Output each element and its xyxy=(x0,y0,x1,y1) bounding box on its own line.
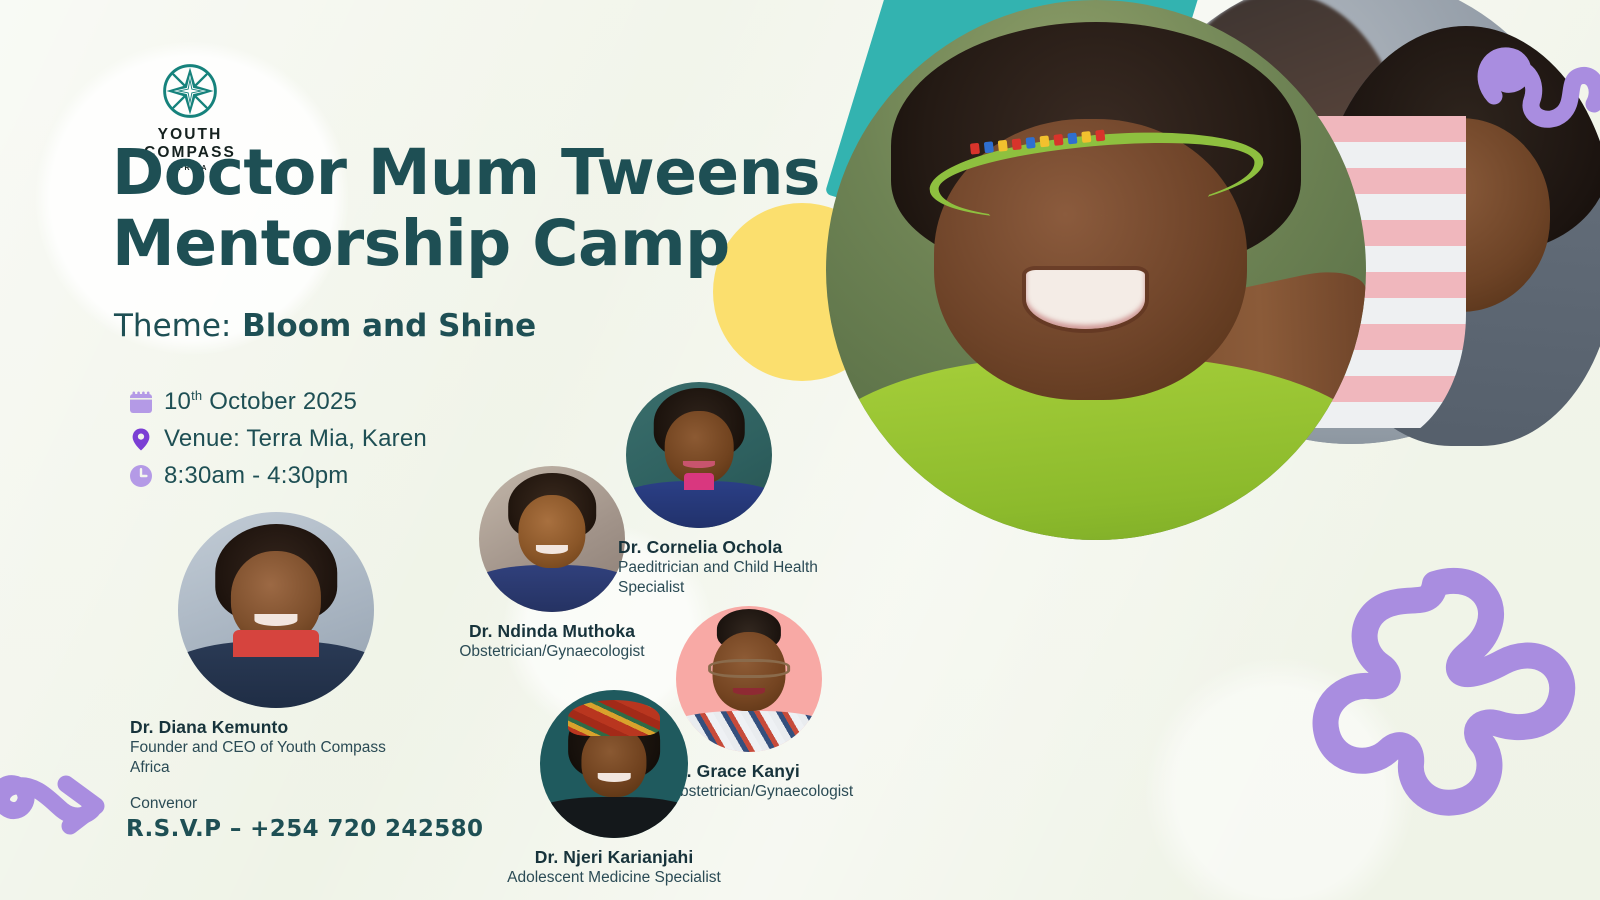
eyeglasses-detail xyxy=(708,659,790,678)
purple-curly-arrow-doodle xyxy=(0,752,122,872)
speaker-card-diana-kemunto: Dr. Diana Kemunto Founder and CEO of You… xyxy=(126,512,426,813)
purple-flower-doodle xyxy=(1285,562,1585,852)
speaker-role: Paeditrician and Child Health Specialist xyxy=(618,558,868,597)
speaker-name: Dr. Cornelia Ochola xyxy=(618,537,880,558)
avatar-njeri-karianjahi xyxy=(540,690,688,838)
event-theme: Theme: Bloom and Shine xyxy=(114,308,536,344)
speaker-role: Obstetrician/Gynaecologist xyxy=(437,642,667,662)
compass-star-icon xyxy=(161,62,219,120)
event-date: 10th October 2025 xyxy=(164,388,357,416)
title-line-2: Mentorship Camp xyxy=(112,209,872,280)
event-time: 8:30am - 4:30pm xyxy=(164,462,348,490)
speaker-card-cornelia-ochola: Dr. Cornelia Ochola Paeditrician and Chi… xyxy=(618,382,880,597)
event-poster: YOUTH COMPASS AFRICA Doctor Mum Tweens M… xyxy=(0,0,1600,900)
theme-label: Theme: xyxy=(114,308,231,344)
avatar-diana-kemunto xyxy=(178,512,374,708)
event-venue: Venue: Terra Mia, Karen xyxy=(164,425,427,453)
detail-row-date: 10th October 2025 xyxy=(128,388,548,416)
speaker-name: Dr. Ndinda Muthoka xyxy=(437,621,667,642)
rsvp-contact: R.S.V.P – +254 720 242580 xyxy=(126,816,483,842)
title-line-1: Doctor Mum Tweens xyxy=(112,138,872,209)
avatar-cornelia-ochola xyxy=(626,382,772,528)
speaker-name: Dr. Diana Kemunto xyxy=(130,717,426,738)
headwrap-detail xyxy=(568,700,660,736)
avatar-ndinda-muthoka xyxy=(479,466,625,612)
speaker-name: Dr. Njeri Karianjahi xyxy=(484,847,744,868)
theme-value: Bloom and Shine xyxy=(242,308,536,344)
page-title: Doctor Mum Tweens Mentorship Camp xyxy=(112,138,872,279)
speaker-role: Founder and CEO of Youth Compass Africa xyxy=(130,738,426,777)
hero-photo-girl-main xyxy=(826,0,1366,540)
calendar-icon xyxy=(128,389,154,415)
location-pin-icon xyxy=(128,426,154,452)
detail-row-venue: Venue: Terra Mia, Karen xyxy=(128,425,548,453)
speaker-card-njeri-karianjahi: Dr. Njeri Karianjahi Adolescent Medicine… xyxy=(484,690,744,888)
clock-icon xyxy=(128,463,154,489)
purple-loop-squiggle-doodle xyxy=(1476,18,1600,148)
speaker-role: Adolescent Medicine Specialist xyxy=(484,868,744,888)
speaker-extra-role: Convenor xyxy=(130,795,426,813)
